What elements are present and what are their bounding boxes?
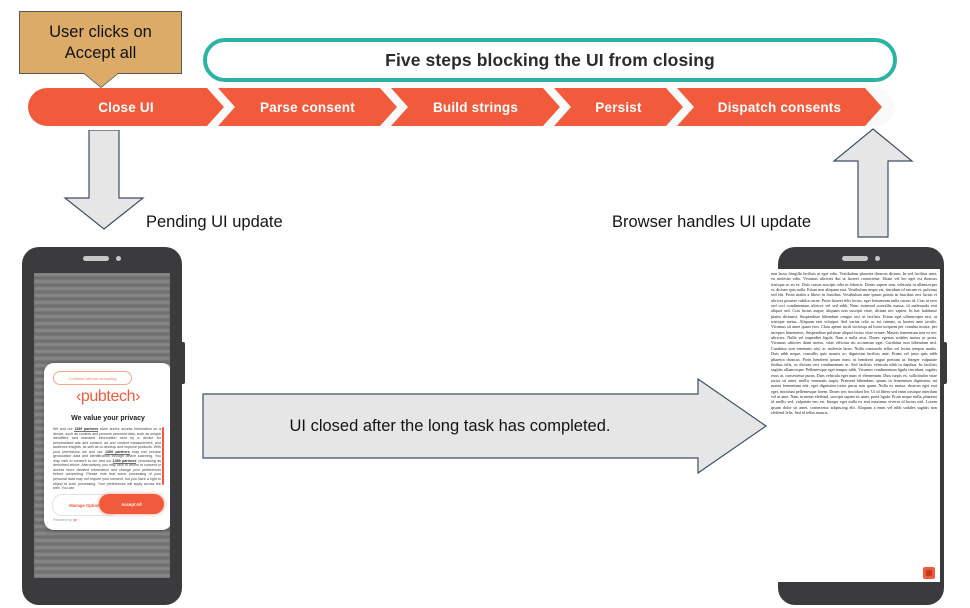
page-badge-icon[interactable] xyxy=(923,567,935,579)
phone-speaker-icon xyxy=(83,256,109,261)
transition-arrow-label: UI closed after the long task has comple… xyxy=(202,378,698,474)
down-arrow-pending-ui-icon xyxy=(63,130,145,230)
process-step-persist[interactable]: Persist xyxy=(554,88,683,126)
continue-without-accepting-button[interactable]: Continue without accepting xyxy=(53,371,132,385)
phone-mockup-left: Continue without accepting ‹pubtech› We … xyxy=(22,247,182,605)
pubtech-logo: ‹pubtech› xyxy=(44,388,170,406)
phone-mockup-right: non lacus fringilla facilisis at eget od… xyxy=(778,247,944,605)
accept-all-label: Accept All xyxy=(121,502,141,507)
continue-without-accepting-label: Continue without accepting xyxy=(68,376,116,381)
transition-arrow: UI closed after the long task has comple… xyxy=(202,378,768,474)
callout-user-clicks-accept-all: User clicks on Accept all xyxy=(19,11,182,74)
up-arrow-browser-handles-icon xyxy=(832,128,914,238)
process-step-label: Dispatch consents xyxy=(712,100,847,115)
phone-camera-icon xyxy=(875,256,880,261)
callout-line-2: Accept all xyxy=(49,43,152,64)
powered-by-label: Powered by xyxy=(53,518,72,522)
consent-dialog-scrollbar[interactable] xyxy=(162,427,164,485)
article-text: non lacus fringilla facilisis at eget od… xyxy=(771,271,937,415)
manage-options-label: Manage Options xyxy=(69,503,102,508)
phone-screen-left: Continue without accepting ‹pubtech› We … xyxy=(34,273,170,578)
callout-line-1: User clicks on xyxy=(49,22,152,43)
process-step-label: Build strings xyxy=(427,100,524,115)
consent-dialog-body: We and our 1389 partners store and/or ac… xyxy=(53,427,161,489)
phone-side-button[interactable] xyxy=(182,342,185,384)
phone-speaker-icon xyxy=(842,256,868,261)
callout-tail-icon xyxy=(84,73,118,87)
powered-by-mark: ‹p› xyxy=(73,518,78,522)
consent-dialog: Continue without accepting ‹pubtech› We … xyxy=(44,363,170,530)
diagram-canvas: User clicks on Accept all Five steps blo… xyxy=(0,0,970,608)
accept-all-button[interactable]: Accept All xyxy=(99,494,164,514)
phone-camera-icon xyxy=(116,256,121,261)
process-step-dispatch-consents[interactable]: Dispatch consents xyxy=(677,88,882,126)
process-chevron-bar: Close UI Parse consent Build strings Per… xyxy=(28,88,894,126)
process-step-label: Close UI xyxy=(92,100,160,115)
phone-bezel-top xyxy=(778,247,944,269)
process-step-label: Parse consent xyxy=(254,100,361,115)
phone-side-button[interactable] xyxy=(944,342,947,384)
phone-bezel-top xyxy=(22,247,182,269)
consent-dialog-title: We value your privacy xyxy=(44,415,170,422)
callout-text: User clicks on Accept all xyxy=(49,22,152,64)
process-step-label: Persist xyxy=(589,100,647,115)
powered-by-footer: Powered by ‹p› xyxy=(53,518,78,522)
process-step-parse-consent[interactable]: Parse consent xyxy=(218,88,397,126)
process-step-close-ui[interactable]: Close UI xyxy=(28,88,224,126)
banner-title: Five steps blocking the UI from closing xyxy=(385,50,715,71)
consent-dialog-buttons: Manage Options Accept All xyxy=(52,494,164,514)
label-browser-handles-ui-update: Browser handles UI update xyxy=(612,213,811,232)
process-step-build-strings[interactable]: Build strings xyxy=(391,88,560,126)
phone-screen-right: non lacus fringilla facilisis at eget od… xyxy=(768,269,940,582)
label-pending-ui-update: Pending UI update xyxy=(146,213,283,232)
banner-five-steps: Five steps blocking the UI from closing xyxy=(203,38,897,82)
